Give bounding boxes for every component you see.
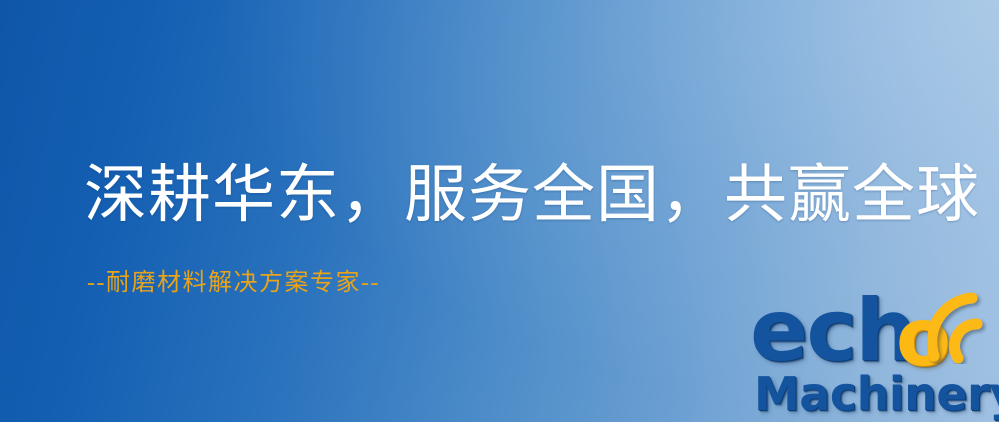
company-logo: ech o Machinery® <box>746 294 999 422</box>
banner-subtitle: --耐磨材料解决方案专家-- <box>87 267 380 299</box>
banner-headline: 深耕华东，服务全国，共赢全球 <box>84 158 980 232</box>
echo-signal-arcs-icon <box>928 292 999 364</box>
logo-echo-prefix: ech <box>750 288 915 374</box>
logo-tagline-text: Machinery <box>754 367 999 421</box>
promo-banner: 深耕华东，服务全国，共赢全球 --耐磨材料解决方案专家-- ech o <box>0 0 999 422</box>
logo-tagline-row: Machinery® <box>754 370 999 422</box>
